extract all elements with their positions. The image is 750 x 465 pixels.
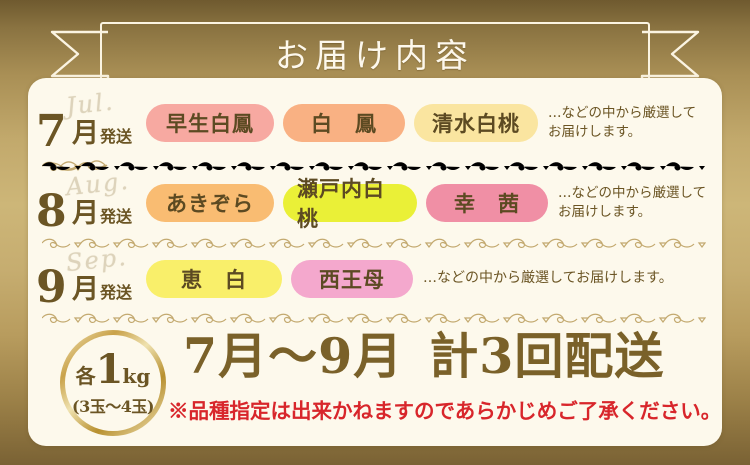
period-start: 7月: [183, 327, 268, 385]
period-tilde: 〜: [268, 327, 318, 385]
period-end: 9月: [318, 327, 403, 385]
weight-unit: kg: [123, 366, 151, 386]
note-line: …などの中から厳選して: [558, 184, 706, 203]
month-number-july: 7: [36, 114, 67, 150]
delivery-row-august: Aug. 8 月 発送 あきぞら 瀬戸内白桃 幸 茜 …などの中から厳選して お…: [28, 172, 722, 234]
weight-each-label: 各: [76, 366, 96, 386]
weight-badge: 各 1 kg (3玉〜4玉): [60, 330, 166, 436]
month-kanji-july: 月: [72, 120, 99, 147]
variety-pill: あきぞら: [146, 184, 274, 222]
selection-note-september: …などの中から厳選してお届けします。: [423, 269, 673, 288]
selection-note-august: …などの中から厳選して お届けします。: [558, 184, 706, 221]
variety-pill: 白 鳳: [283, 104, 405, 142]
month-label-august: Aug. 8 月 発送: [28, 172, 146, 234]
month-shipping-august: 発送: [100, 209, 132, 225]
month-script-august: Aug.: [65, 167, 131, 202]
weight-badge-main: 各 1 kg: [76, 350, 151, 390]
month-script-september: Sep.: [65, 243, 129, 277]
caution-note: ※品種指定は出来かねますのであらかじめご了承ください。: [168, 394, 721, 424]
variety-pill: 幸 茜: [426, 184, 548, 222]
variety-pills-july: 早生白鳳 白 鳳 清水白桃: [146, 104, 538, 142]
variety-pills-september: 恵 白 西王母: [146, 260, 413, 298]
delivery-row-september: Sep. 9 月 発送 恵 白 西王母 …などの中から厳選してお届けします。: [28, 248, 722, 310]
promo-graphic: お届け内容 Jul. 7 月 発送 早生白鳳 白 鳳 清水白桃 …などの中から厳…: [0, 0, 750, 465]
note-line: …などの中から厳選して: [548, 104, 696, 123]
month-label-september: Sep. 9 月 発送: [28, 248, 146, 310]
variety-pill: 清水白桃: [414, 104, 538, 142]
variety-pill: 早生白鳳: [146, 104, 274, 142]
month-kanji-august: 月: [72, 200, 99, 227]
note-line: お届けします。: [548, 123, 696, 142]
delivery-period-line: 7月〜9月計3回配送: [183, 332, 664, 381]
weight-number: 1: [96, 350, 123, 390]
month-kanji-september: 月: [72, 276, 99, 303]
variety-pill: 瀬戸内白桃: [283, 184, 417, 222]
ornament-divider: [42, 310, 706, 326]
weight-count-range: (3玉〜4玉): [72, 393, 154, 417]
month-shipping-july: 発送: [100, 129, 132, 145]
delivery-count: 計3回配送: [429, 327, 664, 385]
variety-pill: 恵 白: [146, 260, 282, 298]
summary-section: 各 1 kg (3玉〜4玉) 7月〜9月計3回配送 ※品種指定は出来かねますので…: [28, 326, 722, 444]
variety-pill: 西王母: [291, 260, 413, 298]
month-script-july: Jul.: [65, 88, 116, 121]
variety-pills-august: あきぞら 瀬戸内白桃 幸 茜: [146, 184, 548, 222]
month-number-september: 9: [36, 270, 67, 306]
content-panel: Jul. 7 月 発送 早生白鳳 白 鳳 清水白桃 …などの中から厳選して お届…: [28, 78, 722, 446]
month-label-july: Jul. 7 月 発送: [28, 92, 146, 154]
note-line: お届けします。: [558, 203, 706, 222]
page-title: お届け内容: [100, 22, 650, 84]
weight-badge-content: 各 1 kg (3玉〜4玉): [65, 335, 161, 431]
selection-note-july: …などの中から厳選して お届けします。: [548, 104, 696, 141]
month-number-august: 8: [36, 194, 67, 230]
month-shipping-september: 発送: [100, 285, 132, 301]
delivery-row-july: Jul. 7 月 発送 早生白鳳 白 鳳 清水白桃 …などの中から厳選して お届…: [28, 92, 722, 154]
